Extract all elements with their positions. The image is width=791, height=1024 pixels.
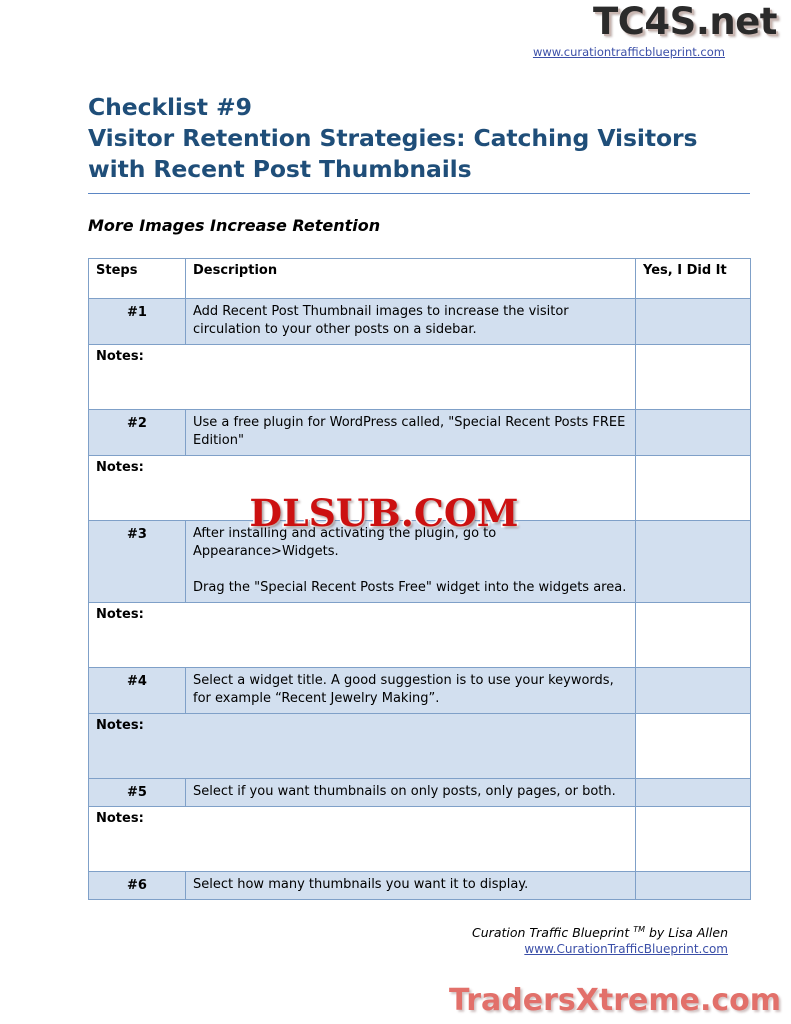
title-block: Checklist #9 Visitor Retention Strategie… — [88, 92, 750, 235]
yes-i-did-it-cell[interactable] — [636, 521, 751, 603]
step-number-cell: #3 — [89, 521, 186, 603]
footer-credit: Curation Traffic Blueprint TM by Lisa Al… — [0, 925, 728, 940]
notes-cell[interactable]: Notes: — [89, 807, 636, 872]
checklist-table: Steps Description Yes, I Did It #1Add Re… — [88, 258, 751, 900]
description-line: Drag the "Special Recent Posts Free" wid… — [193, 579, 628, 597]
notes-cell[interactable]: Notes: — [89, 603, 636, 668]
yes-i-did-it-cell[interactable] — [636, 668, 751, 714]
notes-yes-cell[interactable] — [636, 603, 751, 668]
notes-label: Notes: — [96, 349, 144, 364]
notes-yes-cell[interactable] — [636, 714, 751, 779]
tradersxtreme-logo: TradersXtreme.com — [449, 983, 781, 1018]
notes-label: Notes: — [96, 607, 144, 622]
notes-row: Notes: — [89, 603, 751, 668]
footer-site-link[interactable]: www.CurationTrafficBlueprint.com — [0, 942, 728, 956]
table-header-row: Steps Description Yes, I Did It — [89, 259, 751, 299]
yes-i-did-it-cell[interactable] — [636, 779, 751, 807]
trademark-mark: TM — [633, 925, 645, 934]
step-description-cell: After installing and activating the plug… — [186, 521, 636, 603]
description-line: Select a widget title. A good suggestion… — [193, 672, 628, 708]
table-row: #6Select how many thumbnails you want it… — [89, 872, 751, 900]
column-header-yes: Yes, I Did It — [636, 259, 751, 299]
column-header-description: Description — [186, 259, 636, 299]
description-line — [193, 561, 628, 579]
step-description-cell: Select a widget title. A good suggestion… — [186, 668, 636, 714]
description-line: Select how many thumbnails you want it t… — [193, 876, 628, 894]
description-line: Select if you want thumbnails on only po… — [193, 783, 628, 801]
notes-label: Notes: — [96, 811, 144, 826]
notes-cell[interactable]: Notes: — [89, 456, 636, 521]
yes-i-did-it-cell[interactable] — [636, 410, 751, 456]
notes-label: Notes: — [96, 718, 144, 733]
notes-row: Notes: — [89, 807, 751, 872]
table-header: Steps Description Yes, I Did It — [89, 259, 751, 299]
step-number-cell: #2 — [89, 410, 186, 456]
title-line-2: Visitor Retention Strategies: Catching V… — [88, 123, 750, 154]
notes-row: Notes: — [89, 456, 751, 521]
notes-yes-cell[interactable] — [636, 345, 751, 410]
description-line: Use a free plugin for WordPress called, … — [193, 414, 628, 450]
table-row: #4Select a widget title. A good suggesti… — [89, 668, 751, 714]
footer-credit-suffix: by Lisa Allen — [645, 925, 728, 940]
notes-yes-cell[interactable] — [636, 456, 751, 521]
page-footer: Curation Traffic Blueprint TM by Lisa Al… — [0, 925, 791, 956]
description-line: Add Recent Post Thumbnail images to incr… — [193, 303, 628, 339]
step-description-cell: Select how many thumbnails you want it t… — [186, 872, 636, 900]
step-number-cell: #4 — [89, 668, 186, 714]
notes-label: Notes: — [96, 460, 144, 475]
column-header-steps: Steps — [89, 259, 186, 299]
site-brand: TC4S.net www.curationtrafficblueprint.co… — [463, 0, 783, 59]
yes-i-did-it-cell[interactable] — [636, 872, 751, 900]
step-description-cell: Add Recent Post Thumbnail images to incr… — [186, 299, 636, 345]
notes-yes-cell[interactable] — [636, 807, 751, 872]
title-divider — [88, 193, 750, 194]
notes-row: Notes: — [89, 714, 751, 779]
notes-row: Notes: — [89, 345, 751, 410]
table-row: #3After installing and activating the pl… — [89, 521, 751, 603]
table-body: #1Add Recent Post Thumbnail images to in… — [89, 299, 751, 900]
section-heading: More Images Increase Retention — [88, 216, 750, 235]
title-line-3: with Recent Post Thumbnails — [88, 154, 750, 185]
yes-i-did-it-cell[interactable] — [636, 299, 751, 345]
notes-cell[interactable]: Notes: — [89, 714, 636, 779]
title-line-1: Checklist #9 — [88, 92, 750, 123]
document-page: TC4S.net www.curationtrafficblueprint.co… — [0, 0, 791, 1024]
description-line: After installing and activating the plug… — [193, 525, 628, 561]
table-row: #2Use a free plugin for WordPress called… — [89, 410, 751, 456]
table-row: #1Add Recent Post Thumbnail images to in… — [89, 299, 751, 345]
step-number-cell: #5 — [89, 779, 186, 807]
step-number-cell: #6 — [89, 872, 186, 900]
footer-credit-prefix: Curation Traffic Blueprint — [472, 925, 633, 940]
tc4s-logo: TC4S.net — [463, 0, 783, 44]
step-description-cell: Select if you want thumbnails on only po… — [186, 779, 636, 807]
notes-cell[interactable]: Notes: — [89, 345, 636, 410]
header-site-link[interactable]: www.curationtrafficblueprint.com — [463, 45, 783, 59]
step-number-cell: #1 — [89, 299, 186, 345]
table-row: #5Select if you want thumbnails on only … — [89, 779, 751, 807]
step-description-cell: Use a free plugin for WordPress called, … — [186, 410, 636, 456]
page-title: Checklist #9 Visitor Retention Strategie… — [88, 92, 750, 185]
